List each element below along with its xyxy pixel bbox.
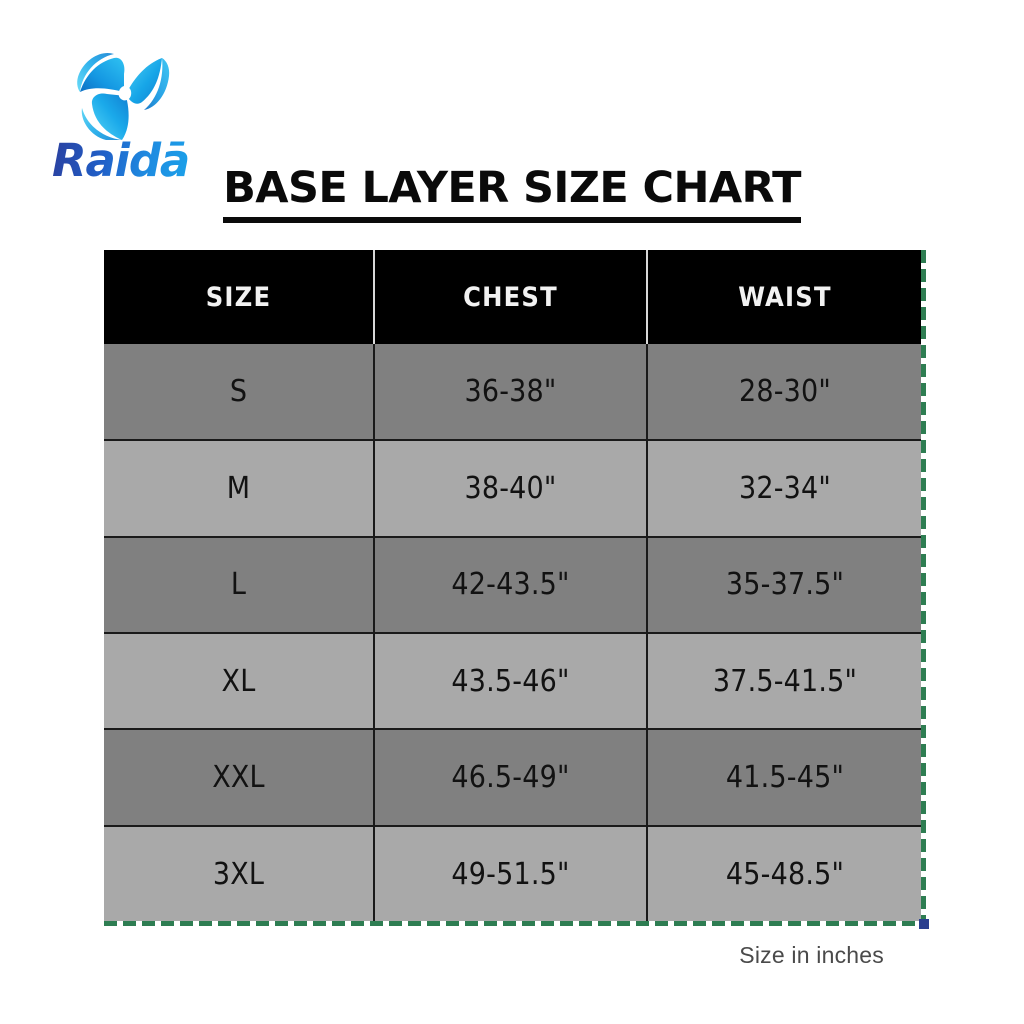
cell-waist: 35-37.5" xyxy=(647,537,922,633)
unit-footnote: Size in inches xyxy=(0,942,884,969)
cell-chest: 38-40" xyxy=(374,440,647,536)
table-body: S 36-38" 28-30" M 38-40" 32-34" L 42-43.… xyxy=(104,344,922,922)
table-row: XXL 46.5-49" 41.5-45" xyxy=(104,729,922,825)
table-row: S 36-38" 28-30" xyxy=(104,344,922,440)
cell-waist: 41.5-45" xyxy=(647,729,922,825)
table-row: 3XL 49-51.5" 45-48.5" xyxy=(104,826,922,922)
cell-size: S xyxy=(104,344,374,440)
cell-size: XL xyxy=(104,633,374,729)
turbine-blades-icon xyxy=(74,48,174,140)
size-chart-table-wrapper: SIZE CHEST WAIST S 36-38" 28-30" M 38-40… xyxy=(104,250,922,922)
size-chart-page: Raidā BASE LAYER SIZE CHART SIZE CHEST W… xyxy=(0,0,1024,1024)
cell-size: L xyxy=(104,537,374,633)
table-header-row: SIZE CHEST WAIST xyxy=(104,250,922,344)
cell-size: 3XL xyxy=(104,826,374,922)
table-row: M 38-40" 32-34" xyxy=(104,440,922,536)
table-row: L 42-43.5" 35-37.5" xyxy=(104,537,922,633)
cell-chest: 43.5-46" xyxy=(374,633,647,729)
cell-size: XXL xyxy=(104,729,374,825)
cell-waist: 28-30" xyxy=(647,344,922,440)
cell-chest: 46.5-49" xyxy=(374,729,647,825)
table-row: XL 43.5-46" 37.5-41.5" xyxy=(104,633,922,729)
cell-chest: 49-51.5" xyxy=(374,826,647,922)
cell-waist: 32-34" xyxy=(647,440,922,536)
column-header-waist: WAIST xyxy=(647,250,922,344)
column-header-chest: CHEST xyxy=(374,250,647,344)
page-title-text: BASE LAYER SIZE CHART xyxy=(223,163,801,223)
cell-chest: 42-43.5" xyxy=(374,537,647,633)
page-title: BASE LAYER SIZE CHART xyxy=(0,163,1024,223)
cell-waist: 37.5-41.5" xyxy=(647,633,922,729)
selection-resize-handle[interactable] xyxy=(919,919,929,929)
cell-size: M xyxy=(104,440,374,536)
column-header-size: SIZE xyxy=(104,250,374,344)
cell-waist: 45-48.5" xyxy=(647,826,922,922)
table-header: SIZE CHEST WAIST xyxy=(104,250,922,344)
cell-chest: 36-38" xyxy=(374,344,647,440)
size-chart-table: SIZE CHEST WAIST S 36-38" 28-30" M 38-40… xyxy=(104,250,922,922)
